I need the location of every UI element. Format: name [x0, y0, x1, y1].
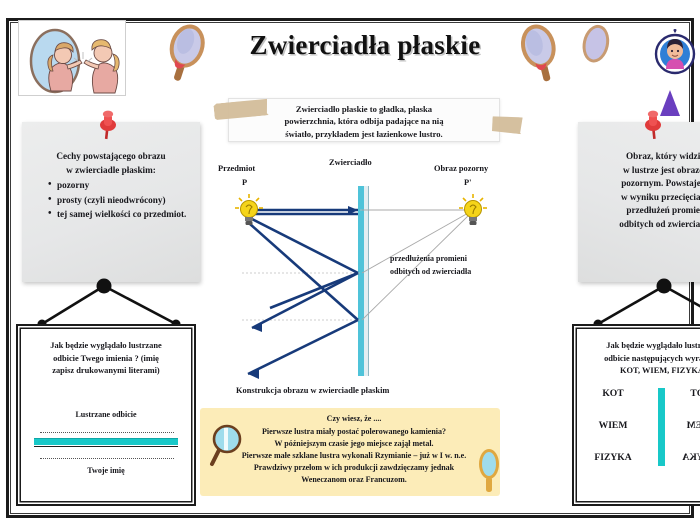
red-pushpin-icon [95, 108, 121, 140]
page-title: Zwierciadła płaskie [215, 30, 515, 61]
definition-text: Zwierciadło płaskie to gładka, płaska po… [239, 103, 489, 140]
hanger-right [592, 276, 700, 328]
framed-portrait-icon [652, 28, 698, 78]
exercise-box-word-reflection[interactable]: Jak będzie wyglądało lustrzane odbicie n… [572, 324, 700, 506]
note-right-line-1: Obraz, który widzisz [584, 150, 700, 164]
note-left-heading-1: Cechy powstającego obrazu [30, 150, 192, 164]
did-you-know-line-3: Pierwsze małe szklane lustra wykonali Rz… [222, 450, 486, 462]
note-right-line-5: przedłużeń promieni [584, 204, 700, 218]
box-left-question-line-1: Jak będzie wyglądało lustrzane [24, 340, 188, 353]
poster-root: Zwierciadła płaskie [0, 0, 700, 520]
did-you-know-line-5: Weneczanom oraz Francuzom. [222, 474, 486, 486]
did-you-know-text: Czy wiesz, że .... Pierwsze lustra miały… [222, 413, 486, 486]
note-left-bullets: pozorny prosty (czyli nieodwrócony) tej … [48, 179, 192, 222]
hand-mirror-icon [512, 22, 568, 84]
did-you-know-line-4: Prawdziwy przełom w ich produkcji zawdzi… [222, 462, 486, 474]
note-right-content: Obraz, który widzisz w lustrze jest obra… [578, 150, 700, 232]
bullet-prosty: prosty (czyli nieodwrócony) [48, 194, 192, 208]
bullet-pozorny: pozorny [48, 179, 192, 193]
word-wiem-mirrored: WIEM [666, 420, 700, 431]
note-virtual-image: Obraz, który widzisz w lustrze jest obra… [578, 122, 700, 282]
box-left-question: Jak będzie wyglądało lustrzane odbicie T… [24, 340, 188, 378]
did-you-know-heading: Czy wiesz, że .... [222, 413, 486, 425]
did-you-know-box: Czy wiesz, że .... Pierwsze lustra miały… [200, 408, 500, 496]
bullet-wielkosc: tej samej wielkości co przedmiot. [48, 208, 192, 222]
definition-card: Zwierciadło płaskie to gładka, płaska po… [228, 98, 500, 142]
definition-line-3: światło, przykładem jest łazienkowe lust… [239, 128, 489, 140]
definition-line-2: powierzchnia, która odbija padające na n… [239, 115, 489, 127]
note-right-line-3: pozornym. Powstaje on [584, 177, 700, 191]
answer-line-reflection[interactable] [40, 432, 174, 433]
box-right-question-line-3: KOT, WIEM, FIZYKA [580, 365, 700, 378]
table-row: FIZYKA FIZYKA [574, 452, 700, 470]
word-kot: KOT [582, 388, 644, 399]
answer-line-name[interactable] [40, 458, 174, 459]
girl-touching-mirror-illustration [18, 20, 126, 96]
small-mirror-icon [476, 446, 502, 494]
note-properties-of-image: Cechy powstającego obrazu w zwierciadle … [22, 122, 200, 282]
label-lustrzane-odbicie: Lustrzane odbicie [18, 410, 194, 419]
did-you-know-line-2: W późniejszym czasie jego miejsce zajął … [222, 438, 486, 450]
table-row: KOT KOT [574, 388, 700, 406]
mirror-edge-line [34, 446, 178, 447]
box-left-question-line-2: odbicie Twego imienia ? (imię [24, 353, 188, 366]
diagram-label-mirror: Zwierciadło [329, 158, 372, 167]
note-right-line-6: odbitych od zwierciadła. [584, 218, 700, 232]
exercise-box-name-reflection[interactable]: Jak będzie wyglądało lustrzane odbicie T… [16, 324, 196, 506]
box-right-question-line-2: odbicie następujących wyrazów: [580, 353, 700, 366]
box-right-question: Jak będzie wyglądało lustrzane odbicie n… [580, 340, 700, 378]
note-left-content: Cechy powstającego obrazu w zwierciadle … [22, 150, 200, 222]
mirror-surface-bar [34, 438, 178, 445]
table-row: WIEM WIEM [574, 420, 700, 438]
hand-mirror-icon [158, 22, 214, 84]
light-bulb-object-icon [234, 193, 264, 227]
diagram-label-image-point: P' [464, 178, 471, 187]
ray-diagram: Przedmiot P Zwierciadło Obraz pozorny P'… [212, 168, 512, 400]
word-kot-mirrored: KOT [666, 388, 700, 399]
hand-mirror-icon [580, 22, 614, 74]
light-bulb-image-icon [458, 193, 488, 227]
note-right-line-4: w wyniku przecięcia się [584, 191, 700, 205]
word-fizyka: FIZYKA [582, 452, 644, 463]
masking-tape-right [491, 115, 522, 135]
diagram-annotation-line-2: odbitych od zwierciadła [390, 267, 471, 276]
diagram-label-image: Obraz pozorny [434, 164, 488, 173]
box-right-question-line-1: Jak będzie wyglądało lustrzane [580, 340, 700, 353]
label-twoje-imie: Twoje imię [18, 466, 194, 475]
diagram-label-object: Przedmiot [218, 164, 255, 173]
box-left-question-line-3: zapisz drukowanymi literami) [24, 365, 188, 378]
definition-line-1: Zwierciadło płaskie to gładka, płaska [239, 103, 489, 115]
note-left-heading-2: w zwierciadle płaskim: [30, 164, 192, 178]
red-pushpin-icon [640, 108, 666, 140]
diagram-caption: Konstrukcja obrazu w zwierciadle płaskim [236, 386, 389, 395]
word-wiem: WIEM [582, 420, 644, 431]
did-you-know-line-1: Pierwsze lustra miały postać polerowaneg… [222, 426, 486, 438]
word-fizyka-mirrored: FIZYKA [666, 452, 700, 463]
hanger-left [36, 276, 182, 328]
diagram-annotation-line-1: przedłużenia promieni [390, 254, 467, 263]
diagram-label-object-point: P [242, 178, 247, 187]
note-right-line-2: w lustrze jest obrazem [584, 164, 700, 178]
